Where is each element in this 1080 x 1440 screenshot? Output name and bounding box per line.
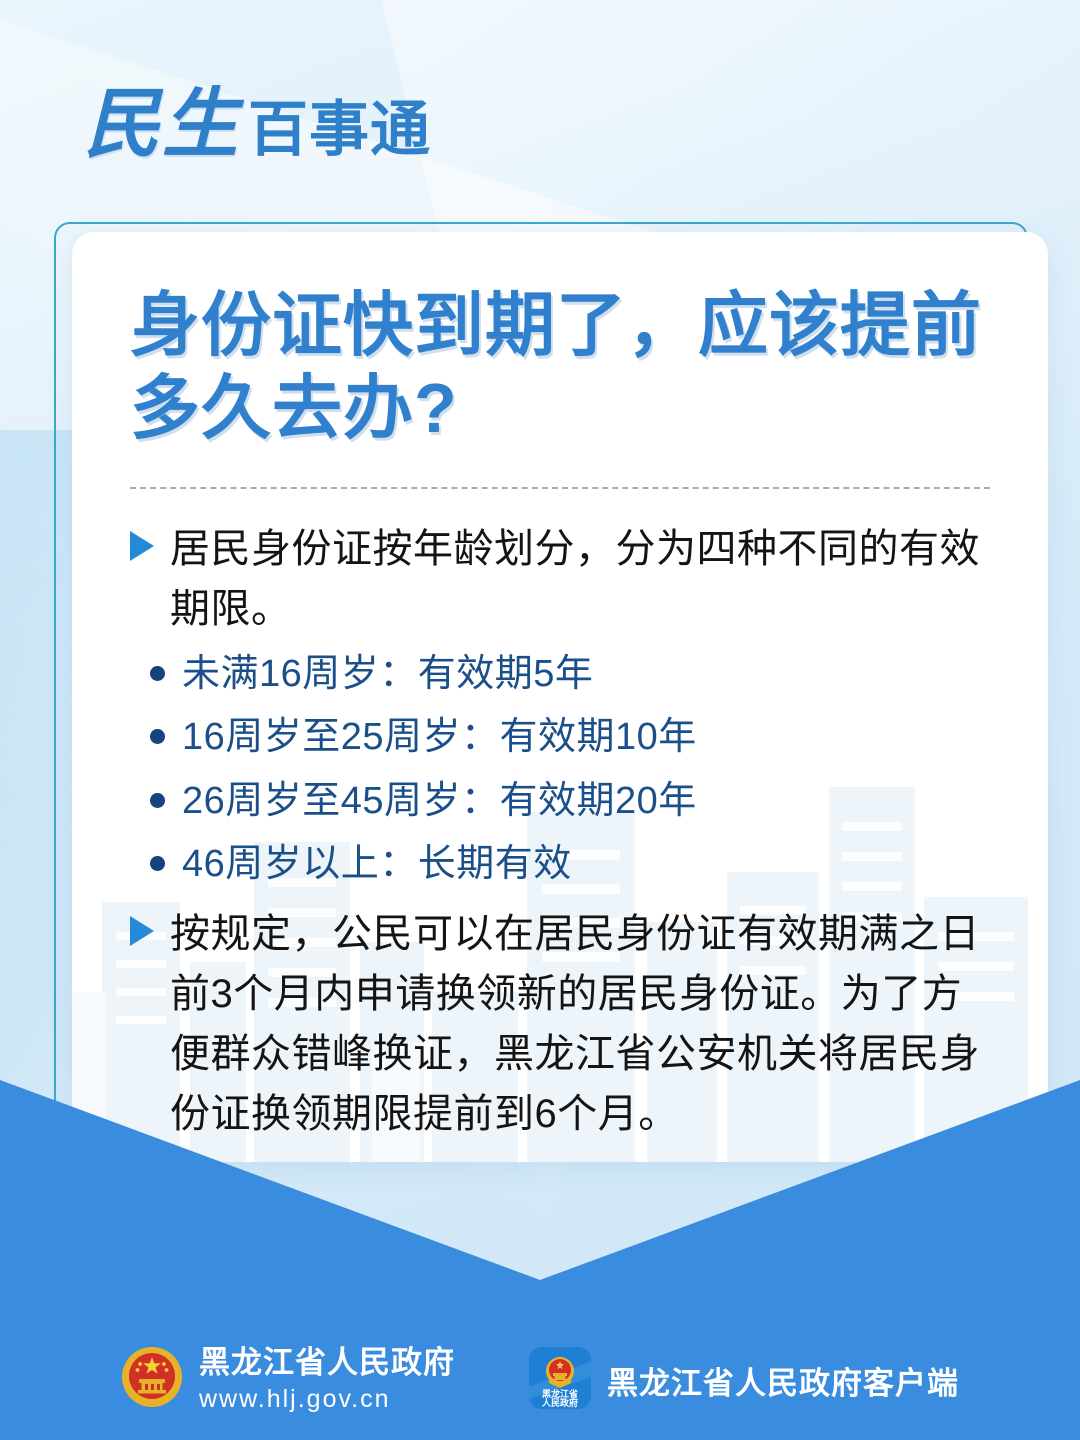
content-card: 身份证快到期了，应该提前多久去办? 居民身份证按年龄划分，分为四种不同的有效期限… xyxy=(72,232,1048,1162)
bullet-text-1: 居民身份证按年龄划分，分为四种不同的有效期限。 xyxy=(170,519,990,639)
page-title: 身份证快到期了，应该提前多久去办? xyxy=(130,284,990,449)
footer-gov-block[interactable]: 黑龙江省人民政府 www.hlj.gov.cn xyxy=(121,1345,455,1415)
brand-header: 民生 百事通 xyxy=(84,78,431,170)
triangle-bullet-icon xyxy=(130,916,154,946)
sub-item-text-4: 46周岁以上：长期有效 xyxy=(182,839,572,890)
sub-item-text-2: 16周岁至25周岁：有效期10年 xyxy=(182,712,697,763)
footer-app-name: 黑龙江省人民政府客户端 xyxy=(607,1358,959,1403)
list-item: 26周岁至45周岁：有效期20年 xyxy=(130,776,990,827)
list-item: 未满16周岁：有效期5年 xyxy=(130,649,990,700)
chevron-shape xyxy=(0,1080,1080,1340)
dot-bullet-icon xyxy=(150,856,165,871)
sub-item-text-3: 26周岁至45周岁：有效期20年 xyxy=(182,776,697,827)
brand-logo-brush: 民生 xyxy=(84,86,240,162)
bullet-item-1: 居民身份证按年龄划分，分为四种不同的有效期限。 xyxy=(130,519,990,639)
list-item: 46周岁以上：长期有效 xyxy=(130,839,990,890)
list-item: 16周岁至25周岁：有效期10年 xyxy=(130,712,990,763)
brand-logo-solid: 百事通 xyxy=(248,100,431,160)
sub-item-text-1: 未满16周岁：有效期5年 xyxy=(182,649,593,700)
footer-gov-url[interactable]: www.hlj.gov.cn xyxy=(199,1383,455,1416)
hlj-gov-app-icon[interactable]: 黑龙江省 人民政府 xyxy=(529,1347,591,1414)
app-icon-line2: 人民政府 xyxy=(541,1397,578,1409)
national-emblem-icon xyxy=(121,1346,183,1413)
dot-bullet-icon xyxy=(150,666,165,681)
footer-gov-name: 黑龙江省人民政府 xyxy=(199,1345,455,1381)
footer-app-block[interactable]: 黑龙江省 人民政府 黑龙江省人民政府客户端 xyxy=(529,1347,959,1414)
footer-gov-texts: 黑龙江省人民政府 www.hlj.gov.cn xyxy=(199,1345,455,1415)
validity-sub-list: 未满16周岁：有效期5年 16周岁至25周岁：有效期10年 26周岁至45周岁：… xyxy=(130,649,990,890)
poster-root: 民生 百事通 xyxy=(0,0,1080,1440)
footer: 黑龙江省人民政府 www.hlj.gov.cn 黑龙江省 人民政府 xyxy=(0,1320,1080,1440)
dot-bullet-icon xyxy=(150,729,165,744)
title-divider xyxy=(130,487,990,489)
triangle-bullet-icon xyxy=(130,531,154,561)
dot-bullet-icon xyxy=(150,793,165,808)
